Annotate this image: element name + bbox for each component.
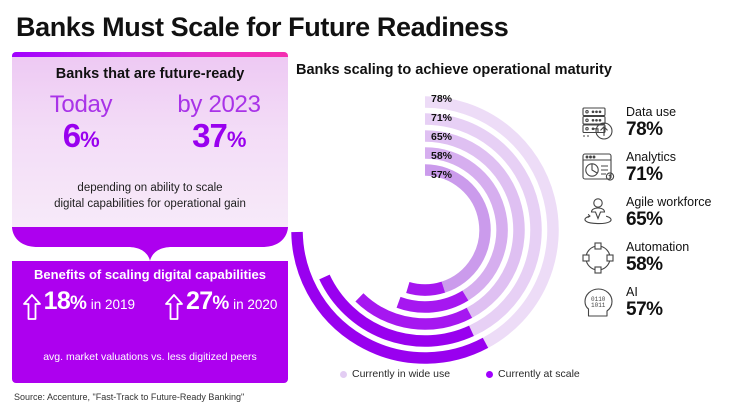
chart-title: Banks scaling to achieve operational mat… <box>296 62 612 78</box>
metric-row-data-use: Data use 78% <box>578 100 746 145</box>
metric-list: Data use 78% Analytics 71% <box>578 100 746 325</box>
arrow-up-icon-svg <box>165 294 183 320</box>
benefit-2019: 18% in 2019 <box>23 289 135 325</box>
stat-2023: by 2023 37% <box>167 92 271 154</box>
stat-today-number: 6 <box>63 117 80 154</box>
benefit-2020-text: 27% in 2020 <box>186 289 277 314</box>
stat-2023-unit: % <box>227 127 246 152</box>
svg-text:1011: 1011 <box>591 302 606 309</box>
ai-head-icon: 0110 1011 <box>578 283 618 323</box>
metric-pct: 78% <box>626 120 676 139</box>
future-ready-note-line1: depending on ability to scale <box>22 180 278 197</box>
stat-today-value: 6% <box>29 118 133 154</box>
card-accent-bar <box>12 52 288 57</box>
server-upload-icon <box>578 103 618 143</box>
metric-row-ai: 0110 1011 AI 57% <box>578 280 746 325</box>
metric-name: Data use <box>626 106 676 119</box>
metric-pct: 71% <box>626 165 676 184</box>
benefit-2019-number: 18 <box>44 287 70 315</box>
legend-dot-wide-use <box>340 371 347 378</box>
stat-2023-value: 37% <box>167 118 271 154</box>
metric-name: AI <box>626 286 663 299</box>
legend-dot-at-scale <box>486 371 493 378</box>
metric-row-analytics: Analytics 71% <box>578 145 746 190</box>
stat-today-label: Today <box>29 92 133 117</box>
chart-legend: Currently in wide use Currently at scale <box>340 368 580 380</box>
legend-item-at-scale: Currently at scale <box>486 368 580 380</box>
agile-workforce-icon <box>578 193 618 233</box>
future-ready-heading: Banks that are future-ready <box>12 66 288 82</box>
arc-tick-label: 71% <box>396 109 452 128</box>
benefits-heading: Benefits of scaling digital capabilities <box>12 267 288 282</box>
stat-today-unit: % <box>80 127 99 152</box>
automation-nodes-icon <box>578 238 618 278</box>
benefit-2020-value: 27% <box>186 287 229 315</box>
benefit-2019-value: 18% <box>44 287 87 315</box>
source-note: Source: Accenture, "Fast-Track to Future… <box>14 392 244 402</box>
arc-segment <box>425 170 485 287</box>
arrow-up-icon <box>165 294 183 325</box>
future-ready-note: depending on ability to scale digital ca… <box>22 180 278 213</box>
stat-today: Today 6% <box>29 92 133 154</box>
benefits-card: Benefits of scaling digital capabilities… <box>12 227 288 383</box>
benefits-stats: 18% in 2019 27% in 2020 <box>12 289 288 325</box>
legend-label: Currently at scale <box>498 368 580 380</box>
metric-row-automation: Automation 58% <box>578 235 746 280</box>
future-ready-stats: Today 6% by 2023 37% <box>12 92 288 154</box>
metric-pct: 58% <box>626 255 689 274</box>
benefit-2020: 27% in 2020 <box>165 289 277 325</box>
future-ready-note-line2: digital capabilities for operational gai… <box>22 196 278 213</box>
stat-2023-number: 37 <box>192 117 227 154</box>
arrow-up-icon-svg <box>23 294 41 320</box>
benefit-2019-year: in 2019 <box>91 297 135 312</box>
legend-label: Currently in wide use <box>352 368 450 380</box>
book-notch-shape <box>12 227 288 261</box>
metric-pct: 65% <box>626 210 711 229</box>
metric-row-agile-workforce: Agile workforce 65% <box>578 190 746 235</box>
analytics-dashboard-icon <box>578 148 618 188</box>
arc-tick-label: 65% <box>396 128 452 147</box>
page-title: Banks Must Scale for Future Readiness <box>16 12 508 43</box>
benefits-note: avg. market valuations vs. less digitize… <box>20 351 280 363</box>
metric-name: Automation <box>626 241 689 254</box>
metric-name: Agile workforce <box>626 196 711 209</box>
stat-2023-label: by 2023 <box>167 92 271 117</box>
arrow-up-icon <box>23 294 41 325</box>
benefit-2020-unit: % <box>212 293 228 314</box>
legend-item-wide-use: Currently in wide use <box>340 368 450 380</box>
arc-tick-label: 57% <box>396 166 452 185</box>
benefit-2020-number: 27 <box>186 287 212 315</box>
arc-tick-label: 58% <box>396 147 452 166</box>
arc-tick-labels: 78% 71% 65% 58% 57% <box>396 90 452 185</box>
arc-tick-label: 78% <box>396 90 452 109</box>
benefit-2019-text: 18% in 2019 <box>44 289 135 314</box>
arc-segment <box>408 287 444 290</box>
arc-segment <box>399 296 466 307</box>
future-ready-card: Banks that are future-ready Today 6% by … <box>12 52 288 227</box>
benefit-2020-year: in 2020 <box>233 297 277 312</box>
metric-name: Analytics <box>626 151 676 164</box>
metric-pct: 57% <box>626 300 663 319</box>
benefit-2019-unit: % <box>70 293 86 314</box>
